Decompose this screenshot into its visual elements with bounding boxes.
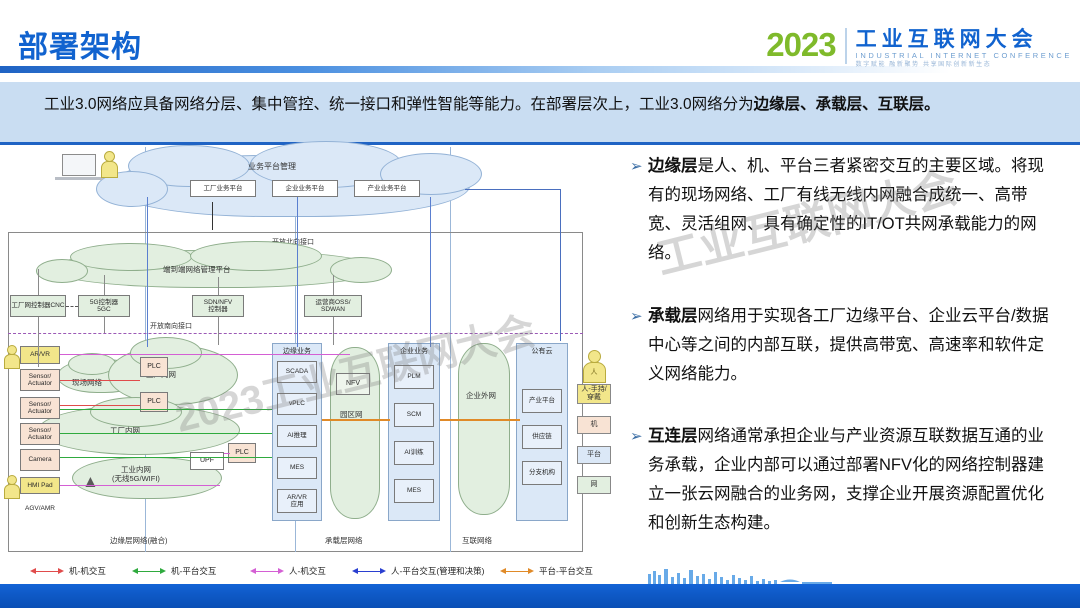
slide-header: 部署架构 2023 工业互联网大会 INDUSTRIAL INTERNET CO… [0, 0, 1080, 82]
legend-label-2: 机-平台交互 [171, 565, 216, 577]
device-arvr[interactable]: AR/VR [20, 346, 60, 364]
bullet-text-1: 边缘层是人、机、平台三者紧密交互的主要区域。将现有的现场网络、工厂有线无线内网融… [648, 152, 1058, 268]
device-sensor-actuator-2[interactable]: Sensor/ Actuator [20, 397, 60, 419]
enterprise-item-mes[interactable]: MES [394, 479, 434, 503]
nfv-box[interactable]: NFV [336, 373, 370, 395]
logo-subtitle: 数字赋能 融新聚势 共享国际创新新生态 [856, 61, 1072, 69]
connector-5gc-down [104, 317, 105, 333]
enterprise-item-plm[interactable]: PLM [394, 365, 434, 389]
legend-arrow-4 [352, 568, 386, 575]
bullet-bold-2: 承载层 [648, 307, 698, 325]
lead-divider [0, 142, 1080, 145]
layer-label-internet: 互联网络 [462, 535, 492, 546]
bullet-bold-3: 互连层 [648, 427, 698, 445]
bullet-bold-1: 边缘层 [648, 157, 698, 175]
sdn-nfv-controller[interactable]: SDN/NFV 控制器 [192, 295, 244, 317]
edge-item-ai-inference[interactable]: AI推理 [277, 425, 317, 447]
legend-item-machine-machine: 机-机交互 [30, 565, 106, 577]
south-interface-line [8, 333, 583, 334]
device-camera[interactable]: Camera [20, 449, 60, 471]
controller-5gc[interactable]: 5G控制器 5GC [78, 295, 130, 317]
device-sensor-actuator-3[interactable]: Sensor/ Actuator [20, 423, 60, 445]
connector-oss-up [333, 275, 334, 295]
line-upf-plc [224, 453, 230, 454]
line-machine-platform-2 [60, 433, 272, 434]
legend-arrow-5 [500, 568, 534, 575]
public-item-supply-chain[interactable]: 供应链 [522, 425, 562, 449]
laptop-base [55, 177, 103, 180]
enterprise-extranet-cloud [458, 343, 510, 515]
icon-legend-machine: 机 [577, 416, 611, 434]
edge-item-mes[interactable]: MES [277, 457, 317, 479]
connector-mgmt-up [212, 202, 213, 230]
line-platform-platform-1 [322, 419, 390, 421]
mgmt-cloud-lobe-d [330, 257, 392, 283]
field-network-label: 现场网络 [72, 377, 102, 388]
bullet-marker-1: ➢ [630, 152, 648, 268]
person-icon-arvr [4, 345, 19, 367]
device-hmi-pad[interactable]: HMI Pad [20, 477, 60, 494]
bullet-text-2: 承载层网络用于实现各工厂边缘平台、企业云平台/数据中心等之间的内部互联，提供高带… [648, 302, 1058, 389]
factory-intranet-label-2: 工厂内网 [110, 425, 140, 436]
bullet-interconnect-layer: ➢ 互连层网络通常承担企业与产业资源互联数据互通的业务承载，企业内部可以通过部署… [630, 422, 1058, 538]
icon-legend-person-label: 人 [585, 366, 603, 380]
antenna-icon: ▲ [82, 472, 99, 492]
lead-paragraph-band: 工业3.0网络应具备网络分层、集中管控、统一接口和弹性智能等能力。在部署层次上，… [0, 82, 1080, 144]
edge-item-arvr-app[interactable]: AR/VR 应用 [277, 489, 317, 513]
south-interface-label: 开放南向接口 [150, 321, 192, 331]
bullet-text-3: 互连层网络通常承担企业与产业资源互联数据互通的业务承载，企业内部可以通过部署NF… [648, 422, 1058, 538]
legend-label-5: 平台-平台交互 [539, 565, 593, 577]
legend-arrow-2 [132, 568, 166, 575]
line-human-machine-hmi [60, 485, 220, 486]
public-item-industry-platform[interactable]: 产业平台 [522, 389, 562, 413]
connector-5gc-up [104, 275, 105, 295]
connector-sdn-down [218, 317, 219, 345]
business-platform-cloud-title: 业务平台管理 [248, 161, 296, 172]
connector-blue-1 [147, 197, 148, 347]
plc-box-1[interactable]: PLC [140, 357, 168, 377]
legend-item-human-platform: 人-平台交互(管理和决策) [352, 565, 485, 577]
connector-cnc-5gc [66, 306, 78, 308]
icon-legend-platform: 平台 [577, 446, 611, 464]
lead-paragraph: 工业3.0网络应具备网络分层、集中管控、统一接口和弹性智能等能力。在部署层次上，… [0, 82, 1080, 119]
laptop-icon [62, 154, 96, 176]
bullet-rest-2: 网络用于实现各工厂边缘平台、企业云平台/数据中心等之间的内部互联，提供高带宽、高… [648, 307, 1049, 383]
line-machine-machine-2 [60, 405, 140, 406]
column-divider-3 [450, 147, 451, 552]
plc-box-3[interactable]: PLC [228, 443, 256, 463]
north-interface-line [8, 232, 583, 233]
explanation-pane: ➢ 边缘层是人、机、平台三者紧密交互的主要区域。将现有的现场网络、工厂有线无线内… [612, 147, 1080, 562]
enterprise-extranet-label: 企业外网 [466, 390, 496, 401]
architecture-diagram: 业务平台管理 工厂业务平台 企业业务平台 产业业务平台 开放北向接口 端到端网络… [0, 147, 612, 562]
legend-label-1: 机-机交互 [69, 565, 106, 577]
device-sensor-actuator-1[interactable]: Sensor/ Actuator [20, 369, 60, 391]
public-item-branch[interactable]: 分支机构 [522, 461, 562, 485]
legend-item-human-machine: 人-机交互 [250, 565, 326, 577]
device-agv-amr[interactable]: AGV/AMR [20, 501, 60, 516]
architecture-diagram-pane: 业务平台管理 工厂业务平台 企业业务平台 产业业务平台 开放北向接口 端到端网络… [0, 147, 612, 562]
logo-title-cn: 工业互联网大会 [856, 28, 1072, 51]
line-machine-platform-3 [60, 457, 272, 458]
connector-cnc-down [38, 317, 39, 367]
footer-band [0, 584, 1080, 608]
legend-item-platform-platform: 平台-平台交互 [500, 565, 593, 577]
enterprise-item-scm[interactable]: SCM [394, 403, 434, 427]
legend-arrow-3 [250, 568, 284, 575]
industrial-wireless-label: 工业内网 (无线5G/WIFI) [112, 465, 160, 483]
connector-cnc-up [38, 269, 39, 295]
bullet-marker-2: ➢ [630, 302, 648, 389]
person-icon-top [100, 151, 117, 177]
enterprise-business-platform-box[interactable]: 企业业务平台 [272, 180, 338, 197]
connector-oss-down [333, 317, 334, 345]
person-icon-hmi [4, 475, 19, 497]
factory-network-controller-cnc[interactable]: 工厂网控制器CNC [10, 295, 66, 317]
line-human-machine-arvr [60, 354, 350, 355]
page-title: 部署架构 [18, 22, 142, 66]
logo-divider [845, 28, 847, 64]
logo-year: 2023 [766, 28, 835, 62]
connector-right-top [465, 189, 561, 190]
e2e-network-management-label: 端到端网络管理平台 [163, 264, 231, 275]
interaction-legend: 机-机交互 机-平台交互 人-机交互 人-平台交互(管理和决策) 平台- [0, 562, 1080, 584]
lead-text-normal: 工业3.0网络应具备网络分层、集中管控、统一接口和弹性智能等能力。在部署层次上，… [44, 96, 754, 113]
layer-label-edge: 边缘层网络(融合) [110, 535, 168, 546]
bullet-carrier-layer: ➢ 承载层网络用于实现各工厂边缘平台、企业云平台/数据中心等之间的内部互联，提供… [630, 302, 1058, 389]
bullet-rest-3: 网络通常承担企业与产业资源互联数据互通的业务承载，企业内部可以通过部署NFV化的… [648, 427, 1044, 532]
factory-business-platform-box[interactable]: 工厂业务平台 [190, 180, 256, 197]
legend-item-machine-platform: 机-平台交互 [132, 565, 216, 577]
connector-sdn-up [218, 277, 219, 295]
layer-label-carrier: 承载层网络 [325, 535, 363, 546]
industry-business-platform-box[interactable]: 产业业务平台 [354, 180, 420, 197]
connector-right-edge [560, 189, 561, 341]
connector-blue-3 [430, 197, 431, 347]
edge-item-vplc[interactable]: vPLC [277, 393, 317, 415]
mgmt-cloud-lobe-c [36, 259, 88, 283]
connector-blue-2 [297, 197, 298, 347]
enterprise-item-ai-training[interactable]: AI训练 [394, 441, 434, 465]
conference-logo: 2023 工业互联网大会 INDUSTRIAL INTERNET CONFERE… [766, 28, 1072, 70]
operator-oss-sdwan[interactable]: 运营商OSS/ SDWAN [304, 295, 362, 317]
bullet-marker-3: ➢ [630, 422, 648, 538]
icon-legend-network: 网 [577, 476, 611, 494]
edge-item-scada[interactable]: SCADA [277, 361, 317, 383]
line-platform-platform-2 [440, 419, 520, 421]
bullet-edge-layer: ➢ 边缘层是人、机、平台三者紧密交互的主要区域。将现有的现场网络、工厂有线无线内… [630, 152, 1058, 268]
legend-arrow-1 [30, 568, 64, 575]
upf-box[interactable]: UPF [190, 452, 224, 470]
legend-label-4: 人-平台交互(管理和决策) [391, 565, 485, 577]
line-machine-platform-1 [60, 409, 272, 410]
factory-intranet-cloud-2-lobe [90, 397, 182, 427]
bullet-rest-1: 是人、机、平台三者紧密交互的主要区域。将现有的现场网络、工厂有线无线内网融合成统… [648, 157, 1044, 262]
line-machine-machine-1 [60, 380, 140, 381]
logo-title-en: INDUSTRIAL INTERNET CONFERENCE [856, 51, 1072, 61]
lead-text-bold: 边缘层、承载层、互联层。 [754, 96, 940, 113]
icon-legend-wearable: 人-手持/ 穿戴 [577, 384, 611, 404]
legend-label-3: 人-机交互 [289, 565, 326, 577]
